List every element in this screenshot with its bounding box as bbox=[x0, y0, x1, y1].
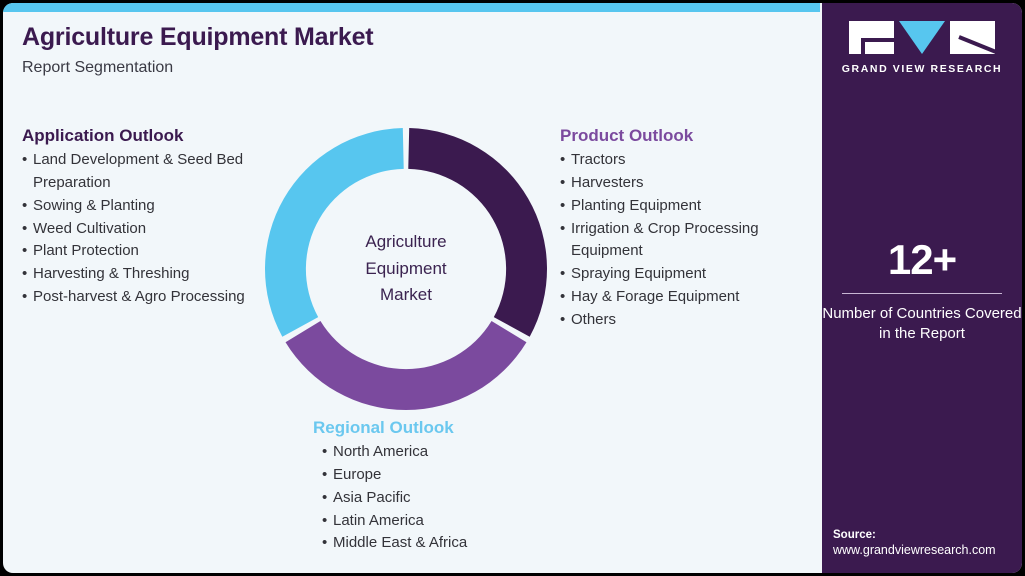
list-item: Post-harvest & Agro Processing bbox=[22, 286, 272, 309]
list-item: Europe bbox=[322, 464, 568, 487]
stat-caption: Number of Countries Covered in the Repor… bbox=[822, 304, 1022, 345]
page-subtitle: Report Segmentation bbox=[22, 58, 373, 77]
donut-chart: Agriculture Equipment Market bbox=[256, 119, 556, 419]
list-item: Middle East & Africa bbox=[322, 532, 568, 555]
header-block: Agriculture Equipment Market Report Segm… bbox=[22, 24, 373, 77]
page-title: Agriculture Equipment Market bbox=[22, 24, 373, 52]
list-item: Land Development & Seed Bed Preparation bbox=[22, 149, 272, 195]
list-item: Irrigation & Crop Processing Equipment bbox=[560, 218, 820, 264]
brand-logo: GRAND VIEW RESEARCH bbox=[822, 21, 1022, 75]
donut-segment bbox=[408, 128, 547, 337]
source-label: Source: bbox=[833, 529, 1022, 541]
logo-g-icon bbox=[849, 21, 894, 54]
infographic-card: Agriculture Equipment Market Report Segm… bbox=[3, 3, 1022, 573]
list-item: Others bbox=[560, 309, 820, 332]
list-item: Asia Pacific bbox=[322, 487, 568, 510]
application-outlook-list: Land Development & Seed Bed Preparation … bbox=[22, 149, 272, 309]
logo-r-icon bbox=[950, 21, 995, 54]
list-item: Plant Protection bbox=[22, 240, 272, 263]
top-accent-bar bbox=[3, 3, 820, 12]
regional-outlook-section: Regional Outlook North America Europe As… bbox=[308, 417, 568, 555]
donut-segment bbox=[286, 321, 527, 410]
logo-wordmark: GRAND VIEW RESEARCH bbox=[822, 63, 1022, 75]
list-item: Tractors bbox=[560, 149, 820, 172]
regional-outlook-list: North America Europe Asia Pacific Latin … bbox=[322, 441, 568, 555]
stat-block: 12+ Number of Countries Covered in the R… bbox=[822, 239, 1022, 345]
list-item: North America bbox=[322, 441, 568, 464]
list-item: Spraying Equipment bbox=[560, 263, 820, 286]
list-item: Sowing & Planting bbox=[22, 195, 272, 218]
donut-segment bbox=[265, 128, 404, 337]
regional-outlook-heading: Regional Outlook bbox=[313, 417, 568, 438]
product-outlook-list: Tractors Harvesters Planting Equipment I… bbox=[560, 149, 820, 331]
side-panel: GRAND VIEW RESEARCH 12+ Number of Countr… bbox=[822, 3, 1022, 573]
application-outlook-heading: Application Outlook bbox=[22, 125, 272, 146]
application-outlook-section: Application Outlook Land Development & S… bbox=[22, 125, 272, 309]
list-item: Planting Equipment bbox=[560, 195, 820, 218]
product-outlook-heading: Product Outlook bbox=[560, 125, 820, 146]
content-area: Agriculture Equipment Market Report Segm… bbox=[3, 12, 820, 573]
list-item: Hay & Forage Equipment bbox=[560, 286, 820, 309]
source-url[interactable]: www.grandviewresearch.com bbox=[833, 543, 1022, 557]
list-item: Weed Cultivation bbox=[22, 218, 272, 241]
source-block: Source: www.grandviewresearch.com bbox=[833, 529, 1022, 557]
list-item: Harvesters bbox=[560, 172, 820, 195]
donut-chart-svg bbox=[256, 119, 556, 419]
logo-marks bbox=[822, 21, 1022, 54]
product-outlook-section: Product Outlook Tractors Harvesters Plan… bbox=[560, 125, 820, 332]
stat-value: 12+ bbox=[822, 239, 1022, 281]
logo-v-triangle-icon bbox=[899, 21, 945, 54]
stat-divider bbox=[842, 293, 1002, 294]
list-item: Harvesting & Threshing bbox=[22, 263, 272, 286]
list-item: Latin America bbox=[322, 510, 568, 533]
